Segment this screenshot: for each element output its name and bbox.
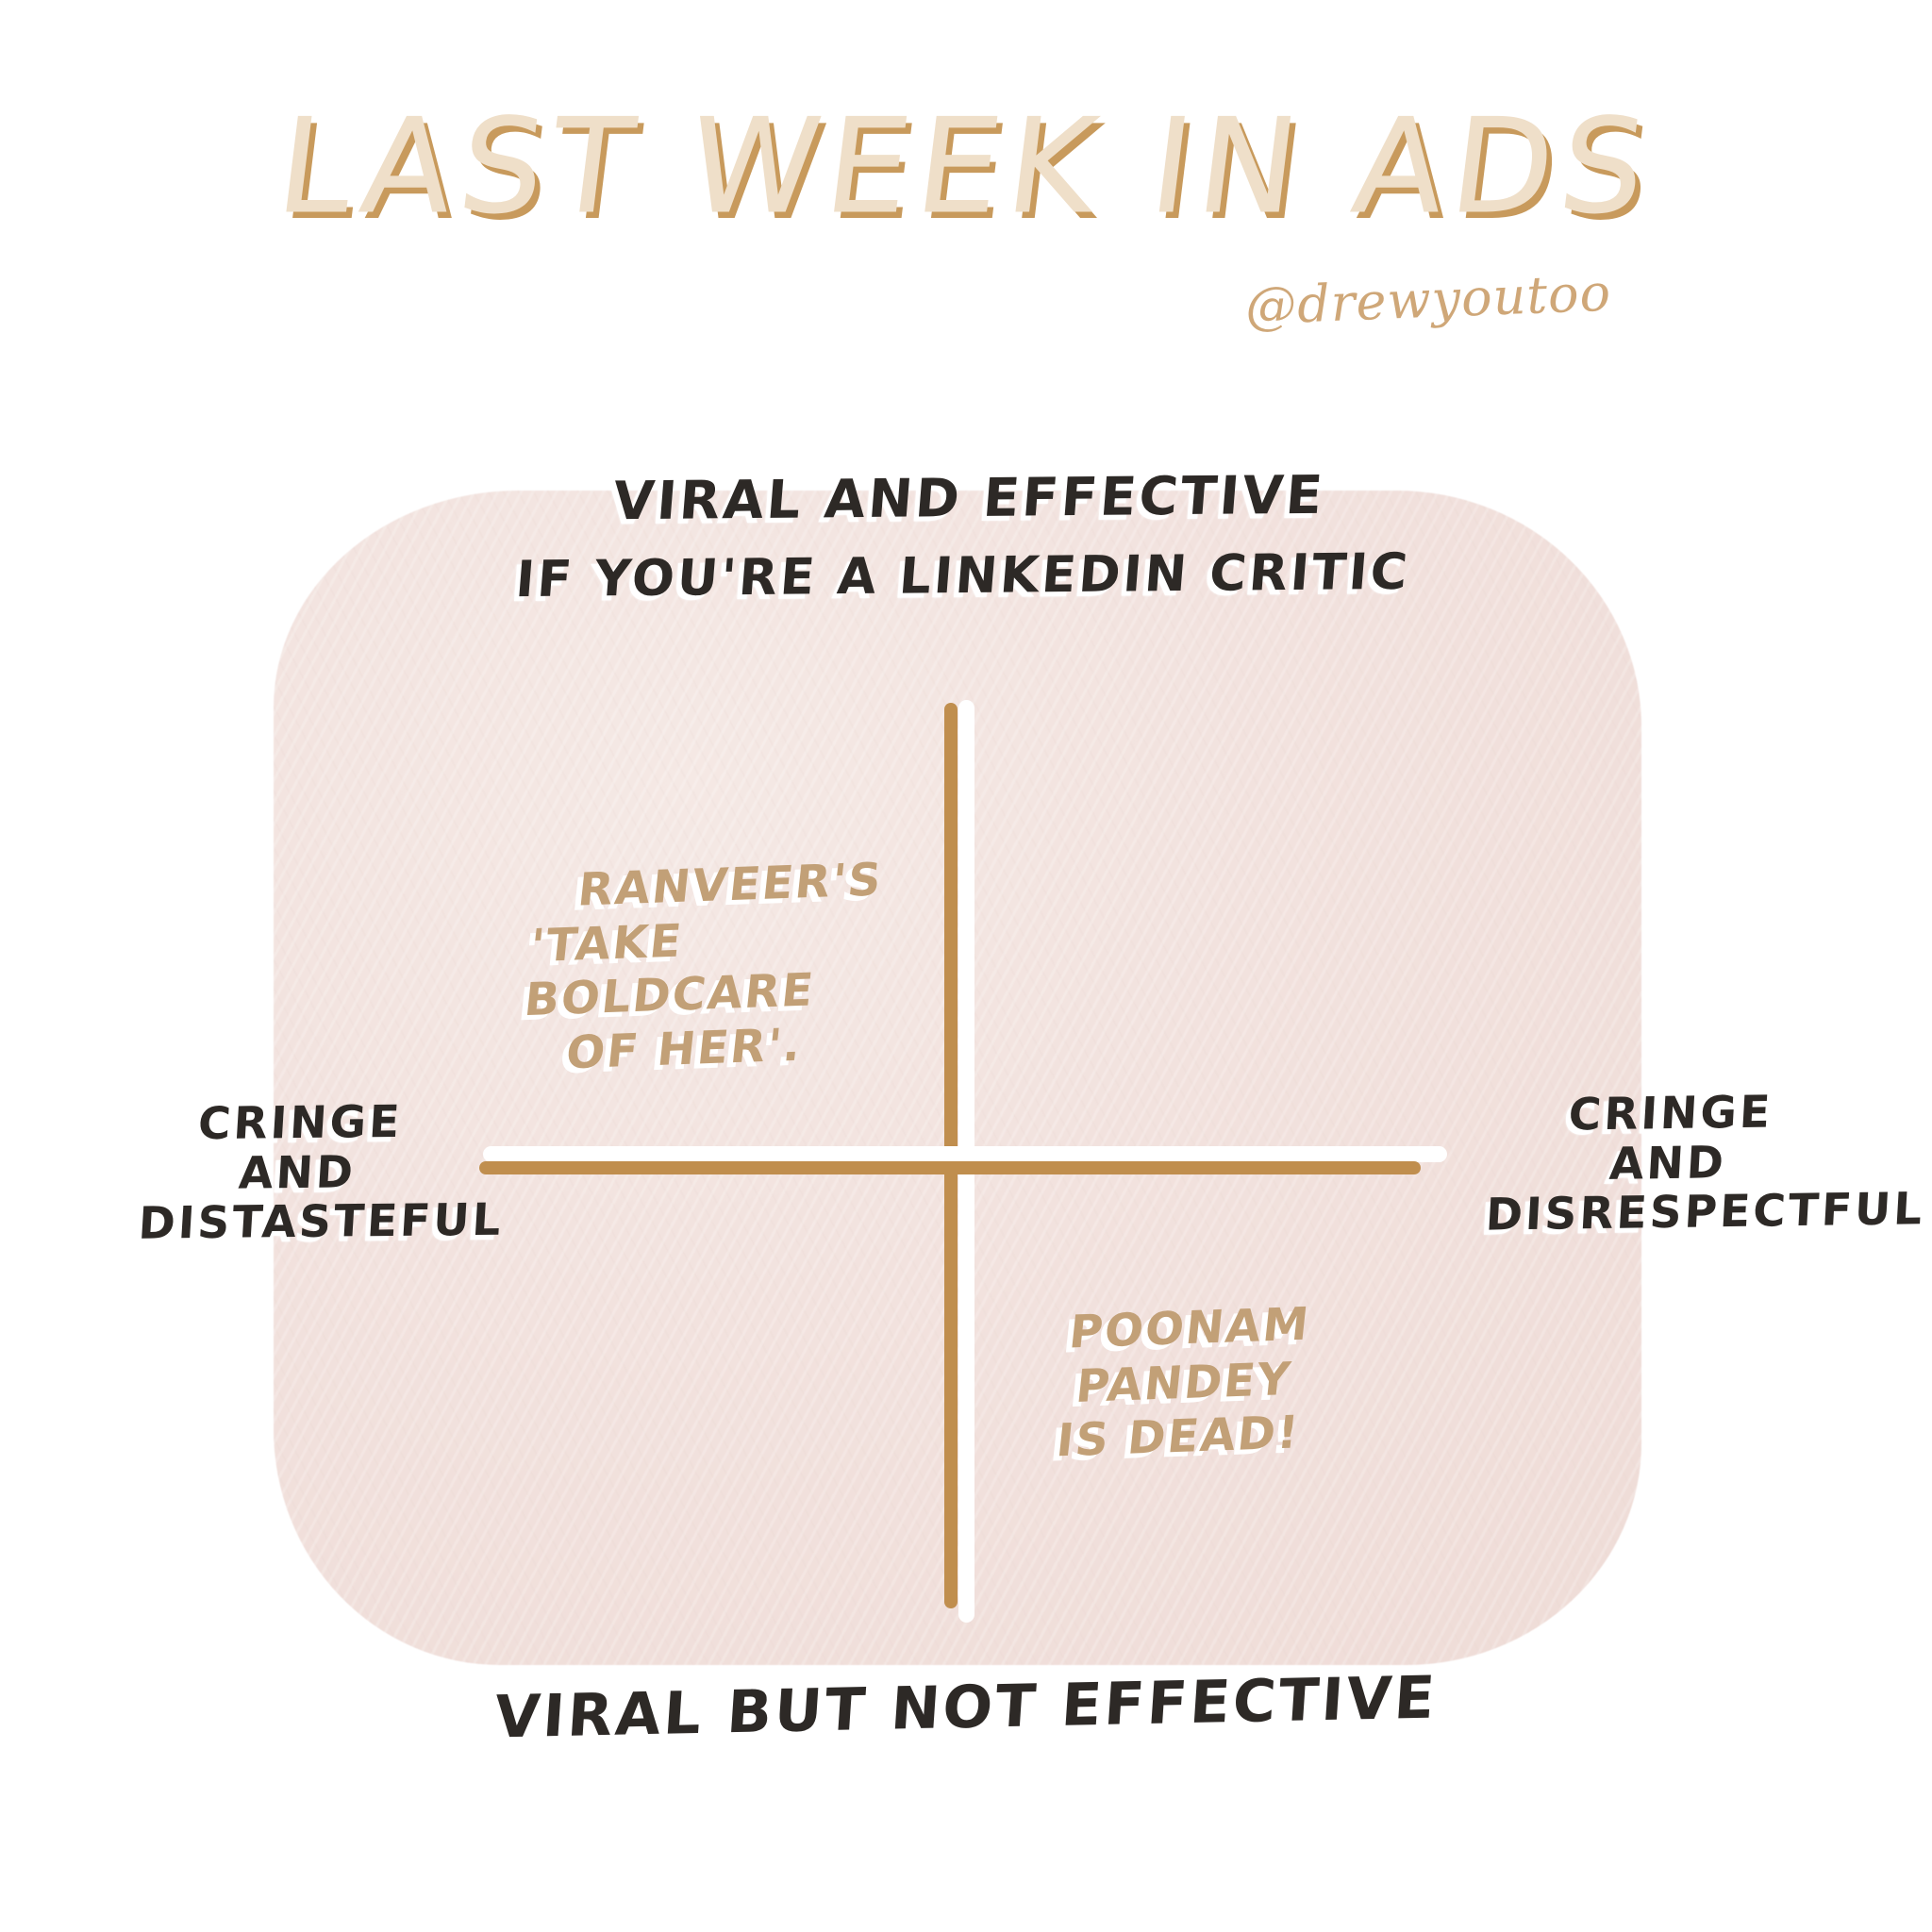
annotation-ranveer: RANVEER'S 'TAKE BOLDCARE OF HER'. bbox=[554, 853, 890, 1081]
annotation-ranveer-line3: OF HER'. bbox=[563, 1016, 872, 1081]
annotation-poonam-line3: IS DEAD! bbox=[1052, 1407, 1304, 1470]
annotation-poonam-line1: POONAM bbox=[1063, 1298, 1315, 1361]
axis-label-left-line3: DISTASTEFUL bbox=[137, 1197, 451, 1250]
axis-label-left-line1: CRINGE bbox=[142, 1097, 457, 1150]
page-title: LAST WEEK IN ADS bbox=[0, 91, 1932, 242]
axis-label-top-line2: IF YOU'RE A LINKEDIN CRITIC bbox=[0, 540, 1932, 612]
horizontal-axis-highlight bbox=[483, 1146, 1447, 1162]
author-handle: @drewyoutoo bbox=[1244, 263, 1612, 337]
axis-label-left-line2: AND bbox=[140, 1147, 454, 1200]
annotation-ranveer-line1: RANVEER'S bbox=[571, 853, 889, 918]
horizontal-axis-line bbox=[479, 1161, 1421, 1174]
annotation-poonam-line2: PANDEY bbox=[1058, 1352, 1309, 1415]
axis-label-right-line3: DISRESPECTFUL bbox=[1484, 1187, 1845, 1241]
axis-label-right: CRINGE AND DISRESPECTFUL bbox=[1484, 1087, 1851, 1241]
axis-label-right-line1: CRINGE bbox=[1490, 1087, 1851, 1141]
axis-label-bottom: VIRAL BUT NOT EFFECTIVE bbox=[0, 1655, 1932, 1760]
infographic-canvas: LAST WEEK IN ADS @drewyoutoo VIRAL AND E… bbox=[0, 0, 1932, 1932]
axis-label-right-line2: AND bbox=[1487, 1137, 1848, 1191]
axis-label-top: VIRAL AND EFFECTIVE IF YOU'RE A LINKEDIN… bbox=[0, 461, 1932, 612]
annotation-ranveer-line2: 'TAKE BOLDCARE bbox=[522, 908, 884, 1028]
quadrant-board-background bbox=[274, 491, 1641, 1665]
axis-label-top-line1: VIRAL AND EFFECTIVE bbox=[610, 465, 1326, 533]
axis-label-left: CRINGE AND DISTASTEFUL bbox=[137, 1097, 458, 1249]
annotation-poonam: POONAM PANDEY IS DEAD! bbox=[1052, 1298, 1315, 1470]
axis-label-bottom-line1: VIRAL BUT NOT EFFECTIVE bbox=[492, 1663, 1440, 1752]
